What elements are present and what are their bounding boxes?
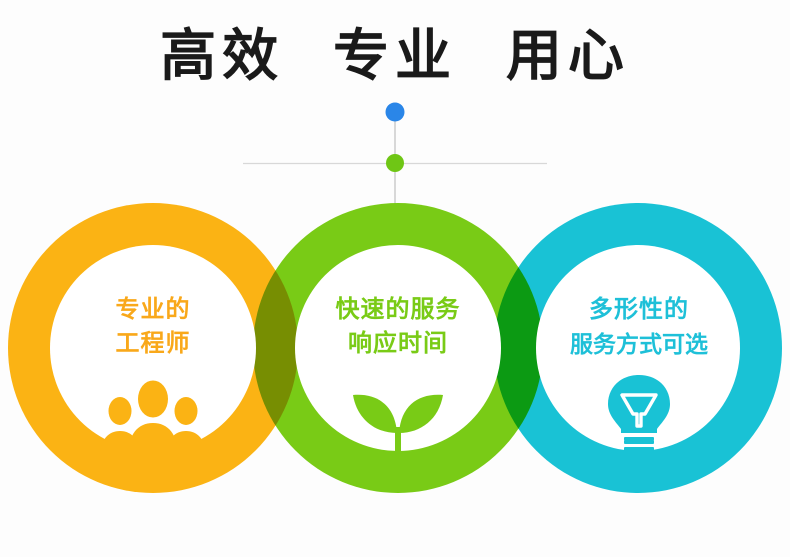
infographic-canvas: 高效 专业 用心 专业的 工程师 bbox=[0, 0, 790, 557]
feature-line-2: 响应时间 bbox=[283, 327, 513, 361]
lightbulb-icon-wrap bbox=[536, 371, 742, 457]
feature-line-2: 服务方式可选 bbox=[524, 327, 754, 361]
feature-text-orange: 专业的 工程师 bbox=[38, 293, 268, 361]
people-icon-wrap bbox=[50, 371, 256, 457]
feature-line-1: 多形性的 bbox=[524, 293, 754, 327]
feature-card-response[interactable]: 快速的服务 响应时间 bbox=[295, 245, 501, 451]
feature-card-engineers[interactable]: 专业的 工程师 bbox=[50, 245, 256, 451]
feature-line-1: 快速的服务 bbox=[283, 293, 513, 327]
feature-card-service-modes[interactable]: 多形性的 服务方式可选 bbox=[536, 245, 742, 451]
people-icon bbox=[98, 377, 208, 457]
sprout-icon-wrap bbox=[295, 371, 501, 457]
feature-line-1: 专业的 bbox=[38, 293, 268, 327]
sprout-icon bbox=[333, 371, 463, 457]
feature-text-green: 快速的服务 响应时间 bbox=[283, 293, 513, 361]
feature-line-2: 工程师 bbox=[38, 327, 268, 361]
feature-text-cyan: 多形性的 服务方式可选 bbox=[524, 293, 754, 361]
lightbulb-icon bbox=[596, 371, 682, 457]
